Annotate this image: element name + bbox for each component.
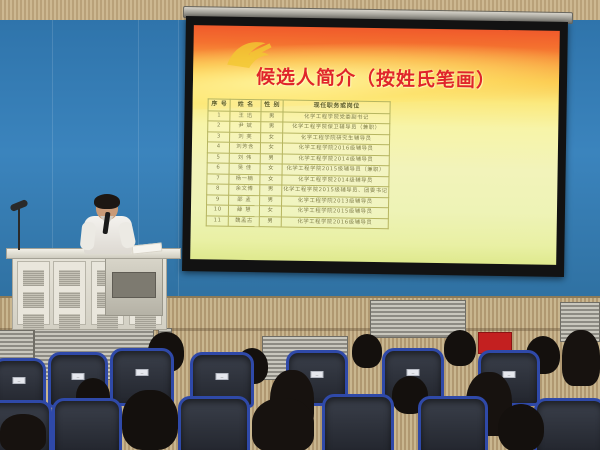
candidate-index: 10 bbox=[207, 205, 229, 216]
audience-head-long-hair bbox=[562, 330, 600, 386]
auditorium-scene: 候选人简介（按姓氏笔画） 序 号 姓 名 性 别 现任职务或岗位 1王 迅男化学… bbox=[0, 0, 600, 450]
auditorium-seat bbox=[534, 398, 600, 450]
slide-title: 候选人简介（按姓氏笔画） bbox=[193, 61, 559, 94]
candidate-name: 杨一楠 bbox=[229, 174, 260, 185]
candidate-index: 7 bbox=[207, 173, 229, 184]
candidate-gender: 男 bbox=[260, 185, 282, 196]
candidate-gender: 女 bbox=[259, 206, 281, 217]
candidate-gender: 男 bbox=[259, 216, 281, 227]
auditorium-seat bbox=[418, 396, 488, 450]
auditorium-seat bbox=[322, 394, 394, 450]
candidate-index: 6 bbox=[207, 163, 229, 174]
speaker bbox=[82, 196, 134, 254]
candidate-gender: 男 bbox=[261, 111, 283, 122]
candidate-gender: 男 bbox=[261, 122, 283, 133]
column-header-index: 序 号 bbox=[208, 98, 230, 111]
column-header-gender: 性 别 bbox=[261, 99, 283, 112]
projected-slide: 候选人简介（按姓氏笔画） 序 号 姓 名 性 别 现任职务或岗位 1王 迅男化学… bbox=[190, 25, 560, 265]
candidate-gender: 女 bbox=[261, 132, 283, 143]
candidate-gender: 女 bbox=[260, 143, 282, 154]
candidate-table-body: 1王 迅男化学工程学院党委副书记2尹 斌男化学工程学院保卫辅导员（兼职）3刘 芙… bbox=[207, 111, 391, 229]
audience-head bbox=[122, 390, 178, 450]
candidate-name: 薛 慧 bbox=[229, 205, 260, 216]
candidate-name: 王 迅 bbox=[230, 111, 261, 122]
candidate-index: 1 bbox=[208, 111, 230, 122]
candidate-index: 2 bbox=[208, 121, 230, 132]
projection-screen: 候选人简介（按姓氏笔画） 序 号 姓 名 性 别 现任职务或岗位 1王 迅男化学… bbox=[182, 16, 568, 277]
candidate-index: 9 bbox=[207, 194, 229, 205]
candidate-name: 吴 佳 bbox=[229, 163, 260, 174]
audience-head bbox=[444, 330, 476, 366]
desk-shelf bbox=[112, 272, 156, 298]
candidate-gender: 男 bbox=[260, 195, 282, 206]
candidate-gender: 男 bbox=[260, 153, 282, 164]
candidate-table: 序 号 姓 名 性 别 现任职务或岗位 1王 迅男化学工程学院党委副书记2尹 斌… bbox=[206, 98, 391, 229]
audience-head bbox=[498, 404, 544, 450]
candidate-name: 余文博 bbox=[229, 184, 260, 195]
audience-head-long-hair bbox=[252, 398, 314, 450]
audience-head bbox=[352, 334, 382, 368]
column-header-name: 姓 名 bbox=[230, 99, 261, 112]
candidate-gender: 女 bbox=[260, 174, 282, 185]
candidate-index: 5 bbox=[208, 153, 230, 164]
table-row: 11魏孟古男化学工程学院2016级辅导员 bbox=[207, 215, 389, 228]
microphone-stand bbox=[18, 208, 20, 250]
candidate-index: 3 bbox=[208, 132, 230, 143]
candidate-name: 刘 芙 bbox=[230, 132, 261, 143]
candidate-index: 8 bbox=[207, 184, 229, 195]
auditorium-seat bbox=[52, 398, 122, 450]
candidate-position: 化学工程学院2016级辅导员 bbox=[281, 217, 389, 229]
candidate-name: 刘 伟 bbox=[229, 153, 260, 164]
candidate-name: 刘芳含 bbox=[230, 142, 261, 153]
candidate-name: 尹 斌 bbox=[230, 121, 261, 132]
candidate-index: 4 bbox=[208, 142, 230, 153]
candidate-index: 11 bbox=[207, 215, 229, 226]
candidate-name: 魏孟古 bbox=[228, 216, 259, 227]
candidate-name: 邵 孟 bbox=[229, 195, 260, 206]
candidate-gender: 女 bbox=[260, 164, 282, 175]
auditorium-seat bbox=[178, 396, 250, 450]
audience-head-long-hair bbox=[0, 414, 46, 450]
